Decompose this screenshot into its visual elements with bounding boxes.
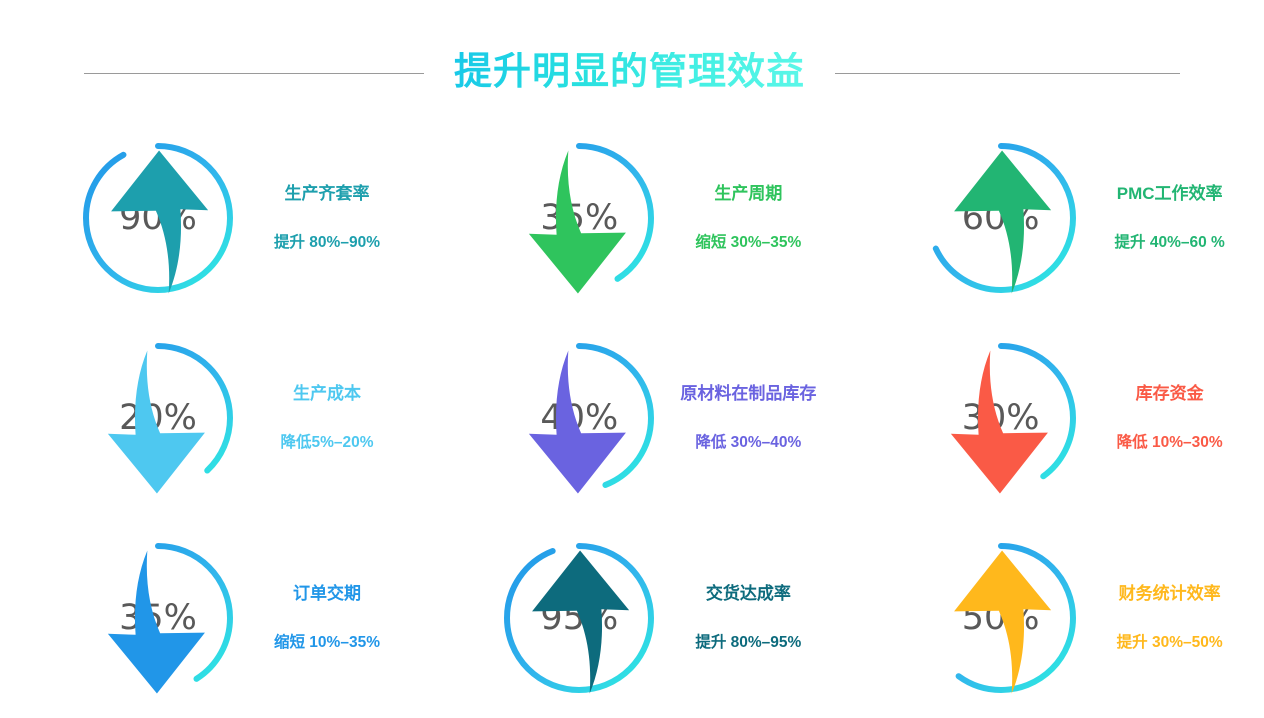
metric-labels: 订单交期缩短 10%–35% [252,584,402,653]
ring-center: 40% [499,338,659,498]
ring-center: 50% [921,538,1081,698]
metric-card[interactable]: 90%生产齐套率提升 80%–90% [0,118,421,318]
metric-detail: 提升 80%–95% [695,634,801,653]
metric-labels: 库存资金降低 10%–30% [1095,384,1245,453]
progress-ring: 90% [78,138,238,298]
metric-detail: 缩短 10%–35% [274,634,380,653]
metric-detail: 缩短 30%–35% [695,234,801,253]
metric-card-inner: 50%财务统计效率提升 30%–50% [921,538,1245,698]
page-header: 提升明显的管理效益 [0,42,1264,104]
metric-detail: 提升 30%–50% [1117,634,1223,653]
metric-card[interactable]: 35%订单交期缩短 10%–35% [0,518,421,718]
page-title: 提升明显的管理效益 [454,52,805,94]
metric-card[interactable]: 60%PMC工作效率提升 40%–60 % [843,118,1264,318]
metric-detail: 降低 30%–40% [695,434,801,453]
metric-card-inner: 95%交货达成率提升 80%–95% [499,538,823,698]
metric-title: 库存资金 [1136,384,1204,404]
metric-detail: 降低 10%–30% [1117,434,1223,453]
metric-detail: 提升 80%–90% [274,234,380,253]
metric-card-inner: 35%订单交期缩短 10%–35% [78,538,402,698]
metric-labels: 财务统计效率提升 30%–50% [1095,584,1245,653]
metric-title: PMC工作效率 [1117,184,1223,204]
metric-card-inner: 35%生产周期缩短 30%–35% [499,138,823,298]
metric-card[interactable]: 40%原材料在制品库存降低 30%–40% [421,318,842,518]
metric-labels: 交货达成率提升 80%–95% [673,584,823,653]
ring-center: 20% [78,338,238,498]
metric-labels: 生产齐套率提升 80%–90% [252,184,402,253]
metric-card-inner: 20%生产成本降低5%–20% [78,338,402,498]
metric-detail: 降低5%–20% [280,434,373,453]
progress-ring: 95% [499,538,659,698]
progress-ring: 30% [921,338,1081,498]
progress-ring: 35% [78,538,238,698]
metric-title: 交货达成率 [706,584,791,604]
header-rule-right [835,73,1180,74]
metric-labels: 生产成本降低5%–20% [252,384,402,453]
progress-ring: 40% [499,338,659,498]
header-rule-left [84,73,424,74]
metric-labels: 原材料在制品库存降低 30%–40% [673,384,823,453]
metric-detail: 提升 40%–60 % [1115,234,1225,253]
progress-ring: 20% [78,338,238,498]
metric-card[interactable]: 20%生产成本降低5%–20% [0,318,421,518]
metric-title: 生产成本 [293,384,361,404]
metric-labels: PMC工作效率提升 40%–60 % [1095,184,1245,253]
metric-card[interactable]: 35%生产周期缩短 30%–35% [421,118,842,318]
metric-title: 生产周期 [714,184,782,204]
ring-center: 35% [78,538,238,698]
metric-card-inner: 40%原材料在制品库存降低 30%–40% [499,338,823,498]
progress-ring: 50% [921,538,1081,698]
metric-card-inner: 90%生产齐套率提升 80%–90% [78,138,402,298]
metric-card[interactable]: 95%交货达成率提升 80%–95% [421,518,842,718]
metric-title: 财务统计效率 [1119,584,1221,604]
metrics-grid: 90%生产齐套率提升 80%–90%35%生产周期缩短 30%–35%60%PM… [0,118,1264,718]
metric-card-inner: 60%PMC工作效率提升 40%–60 % [921,138,1245,298]
progress-ring: 60% [921,138,1081,298]
ring-center: 90% [78,138,238,298]
metric-title: 原材料在制品库存 [680,384,816,404]
progress-ring: 35% [499,138,659,298]
metric-card[interactable]: 30%库存资金降低 10%–30% [843,318,1264,518]
metric-labels: 生产周期缩短 30%–35% [673,184,823,253]
ring-center: 35% [499,138,659,298]
ring-center: 95% [499,538,659,698]
metric-card[interactable]: 50%财务统计效率提升 30%–50% [843,518,1264,718]
ring-center: 30% [921,338,1081,498]
metric-title: 订单交期 [293,584,361,604]
ring-center: 60% [921,138,1081,298]
metric-card-inner: 30%库存资金降低 10%–30% [921,338,1245,498]
metric-title: 生产齐套率 [285,184,370,204]
